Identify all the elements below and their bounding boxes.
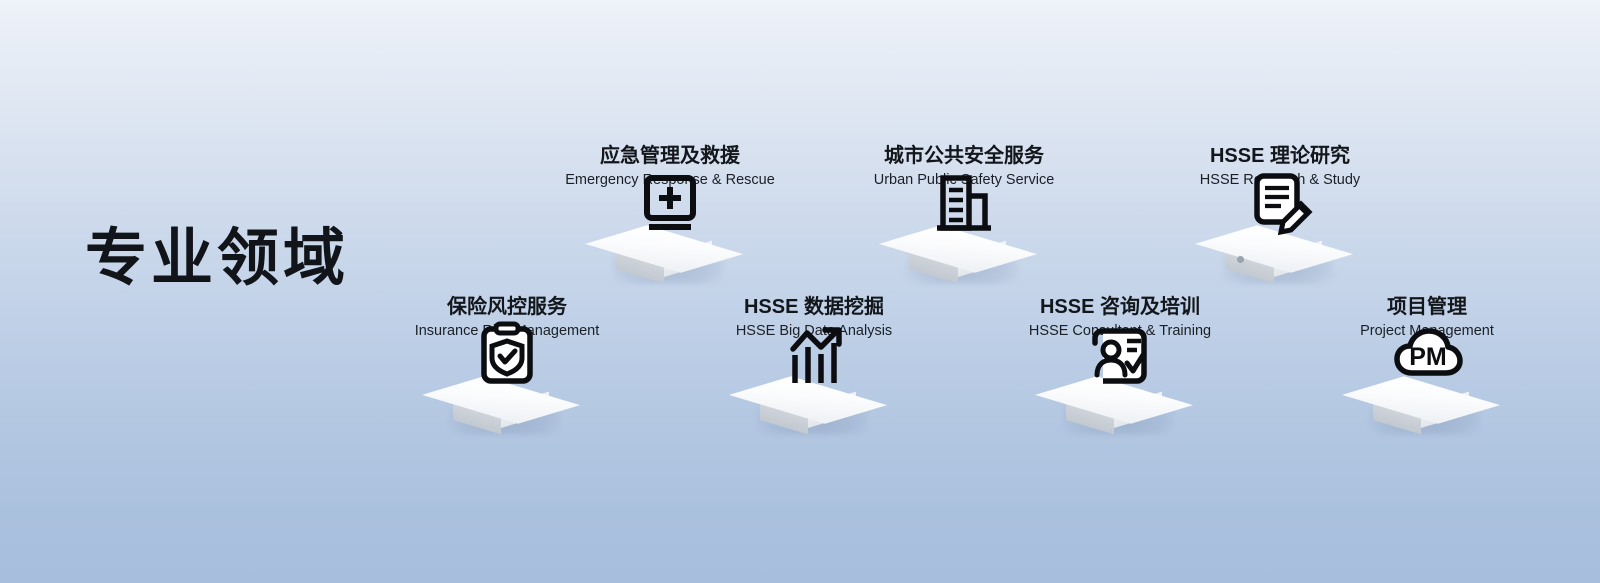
pedestal-dot [1237, 256, 1244, 263]
tile-label-cn: 城市公共安全服务 [834, 144, 1094, 169]
pedestal [754, 355, 874, 441]
tile-label-cn: HSSE 数据挖掘 [684, 295, 944, 320]
page-title: 专业领域 [85, 228, 349, 290]
first-aid-cross-icon [633, 170, 707, 244]
tile-label-cn: 应急管理及救援 [540, 144, 800, 169]
tile-hsse-big-data-analysis[interactable]: HSSE 数据挖掘 HSSE Big Data Analysis [684, 295, 944, 441]
cloud-pm-icon: PM [1390, 321, 1464, 395]
cloud-pm-icon-text: PM [1409, 343, 1447, 371]
tile-label-cn: HSSE 理论研究 [1150, 144, 1410, 169]
tile-label-cn: HSSE 咨询及培训 [990, 295, 1250, 320]
pedestal: PM [1367, 355, 1487, 441]
tile-emergency-response-rescue[interactable]: 应急管理及救援 Emergency Response & Rescue [540, 144, 800, 290]
id-card-person-check-icon [1083, 321, 1157, 395]
tile-insurance-risk-management[interactable]: 保险风控服务 Insurance Risk Management [377, 295, 637, 441]
document-pencil-icon [1243, 170, 1317, 244]
pedestal [1060, 355, 1180, 441]
tile-label-cn: 项目管理 [1297, 295, 1557, 320]
pedestal [904, 204, 1024, 290]
tile-hsse-consultant-training[interactable]: HSSE 咨询及培训 HSSE Consultant & Training [990, 295, 1250, 441]
professional-fields-infographic: 专业领域 应急管理及救援 Emergency Response & Rescue… [0, 0, 1600, 583]
tile-project-management[interactable]: 项目管理 Project Management PM [1297, 295, 1557, 441]
tile-hsse-research-study[interactable]: HSSE 理论研究 HSSE Research & Study [1150, 144, 1410, 290]
pedestal [447, 355, 567, 441]
pedestal [610, 204, 730, 290]
tile-label-cn: 保险风控服务 [377, 295, 637, 320]
city-buildings-icon [927, 170, 1001, 244]
bar-chart-trend-up-icon [777, 321, 851, 395]
clipboard-shield-check-icon [470, 321, 544, 395]
pedestal [1220, 204, 1340, 290]
tile-urban-public-safety-service[interactable]: 城市公共安全服务 Urban Public Safety Service [834, 144, 1094, 290]
